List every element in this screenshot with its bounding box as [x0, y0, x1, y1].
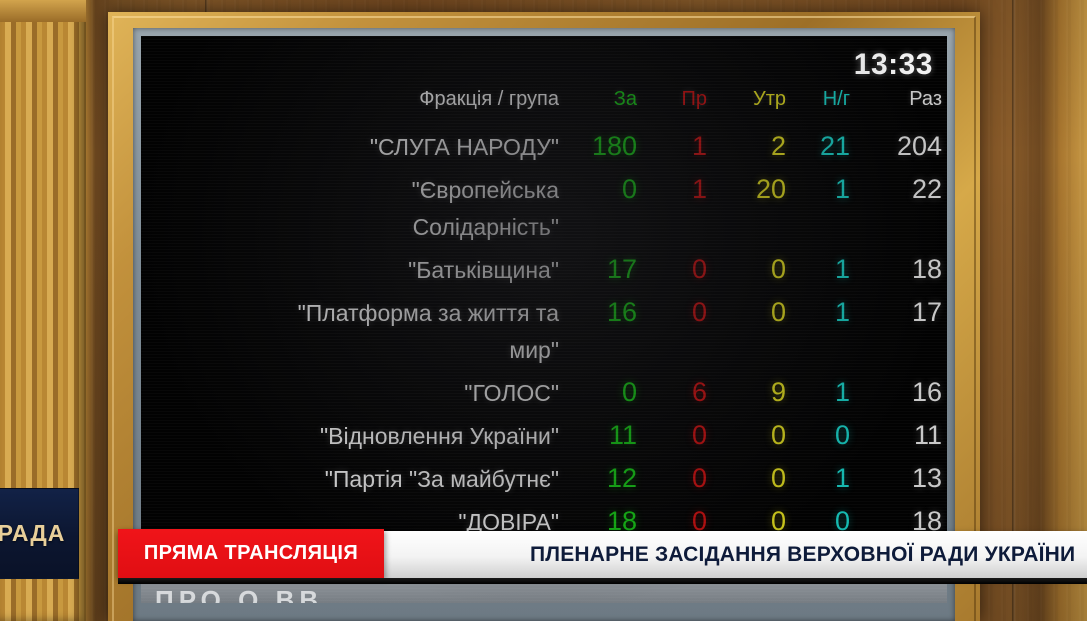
vote-count-pr: 1 [692, 174, 707, 205]
vote-count-ng: 0 [835, 420, 850, 451]
vote-count-ng: 1 [835, 463, 850, 494]
vote-count-pr: 0 [692, 254, 707, 285]
vote-count-pr: 6 [692, 377, 707, 408]
column-header-utr: Утр [753, 88, 786, 111]
vote-count-raz: 17 [912, 297, 942, 328]
faction-name: "Батьківщина" [408, 257, 559, 284]
voting-results-board: 13:33 Фракція / групаЗаПрУтрН/гРаз"СЛУГА… [141, 36, 947, 603]
vote-count-raz: 13 [912, 463, 942, 494]
vote-count-ng: 1 [835, 174, 850, 205]
vote-count-utr: 0 [771, 254, 786, 285]
faction-name: Солідарність" [413, 214, 559, 241]
vote-count-za: 16 [607, 297, 637, 328]
banner-title: ПЛЕНАРНЕ ЗАСІДАННЯ ВЕРХОВНОЇ РАДИ УКРАЇН… [530, 531, 1075, 578]
vote-count-utr: 9 [771, 377, 786, 408]
vote-count-utr: 2 [771, 131, 786, 162]
vote-count-raz: 11 [914, 420, 942, 451]
vote-count-pr: 0 [692, 297, 707, 328]
faction-name: "Відновлення України" [320, 423, 559, 450]
vote-count-utr: 0 [771, 463, 786, 494]
vote-count-za: 180 [592, 131, 637, 162]
live-badge-label: ПРЯМА ТРАНСЛЯЦІЯ [144, 542, 358, 565]
faction-name: "Партія "За майбутнє" [325, 466, 559, 493]
vote-count-za: 12 [607, 463, 637, 494]
column-header-za: За [614, 88, 637, 111]
faction-name: мир" [509, 337, 559, 364]
vote-count-raz: 16 [912, 377, 942, 408]
board-bottom-ghost-text: ПРО О ВВ [155, 585, 323, 603]
vote-count-ng: 1 [835, 254, 850, 285]
vote-count-raz: 22 [912, 174, 942, 205]
vote-count-ng: 1 [835, 297, 850, 328]
faction-name: "Платформа за життя та [298, 300, 559, 327]
broadcast-screenshot: 13:33 Фракція / групаЗаПрУтрН/гРаз"СЛУГА… [0, 0, 1087, 621]
column-header-raz: Раз [909, 88, 942, 111]
vote-count-utr: 0 [771, 420, 786, 451]
live-broadcast-badge: ПРЯМА ТРАНСЛЯЦІЯ [118, 529, 384, 578]
vote-count-za: 0 [622, 174, 637, 205]
channel-logo-label: РАДА [0, 520, 65, 547]
vote-count-ng: 1 [835, 377, 850, 408]
vote-count-raz: 204 [897, 131, 942, 162]
vote-count-za: 17 [607, 254, 637, 285]
column-header-pr: Пр [682, 88, 708, 111]
vote-count-pr: 0 [692, 463, 707, 494]
board-clock: 13:33 [854, 48, 933, 82]
voting-board-screen: 13:33 Фракція / групаЗаПрУтрН/гРаз"СЛУГА… [141, 36, 947, 603]
channel-logo: РАДА [0, 488, 79, 579]
vote-count-raz: 18 [912, 254, 942, 285]
vote-count-utr: 20 [756, 174, 786, 205]
vote-count-utr: 0 [771, 297, 786, 328]
pilaster-band [0, 0, 86, 22]
faction-name: "СЛУГА НАРОДУ" [370, 134, 559, 161]
vote-count-za: 11 [609, 420, 637, 451]
vote-count-pr: 0 [692, 420, 707, 451]
board-bottom-strip: ПРО О ВВ [141, 581, 947, 603]
column-header-ng: Н/г [823, 88, 850, 111]
vote-count-za: 0 [622, 377, 637, 408]
faction-name: "Європейська [412, 177, 559, 204]
vote-count-pr: 1 [692, 131, 707, 162]
banner-underline [118, 578, 1087, 584]
faction-name: "ГОЛОС" [464, 380, 559, 407]
column-header-faction: Фракція / група [419, 88, 559, 111]
vote-count-ng: 21 [820, 131, 850, 162]
